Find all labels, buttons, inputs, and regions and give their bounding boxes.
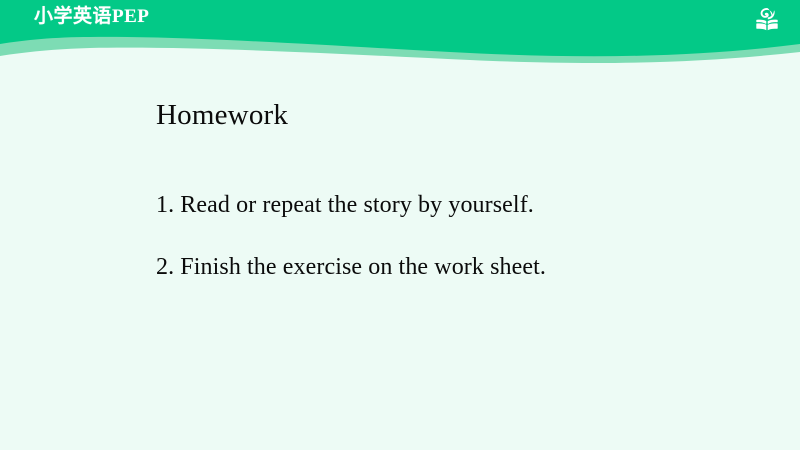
open-book-sprout-logo-icon bbox=[752, 5, 782, 35]
homework-task-list: 1. Read or repeat the story by yourself.… bbox=[156, 190, 760, 282]
slide-canvas: 小学英语PEP Homework 1. Read or repeat the s… bbox=[0, 0, 800, 450]
slide-content: Homework 1. Read or repeat the story by … bbox=[156, 96, 760, 282]
logo-glyph bbox=[752, 5, 782, 35]
page-title: Homework bbox=[156, 96, 760, 134]
list-item: 1. Read or repeat the story by yourself. bbox=[156, 190, 760, 220]
header-title: 小学英语PEP bbox=[34, 4, 149, 30]
list-item: 2. Finish the exercise on the work sheet… bbox=[156, 252, 760, 282]
